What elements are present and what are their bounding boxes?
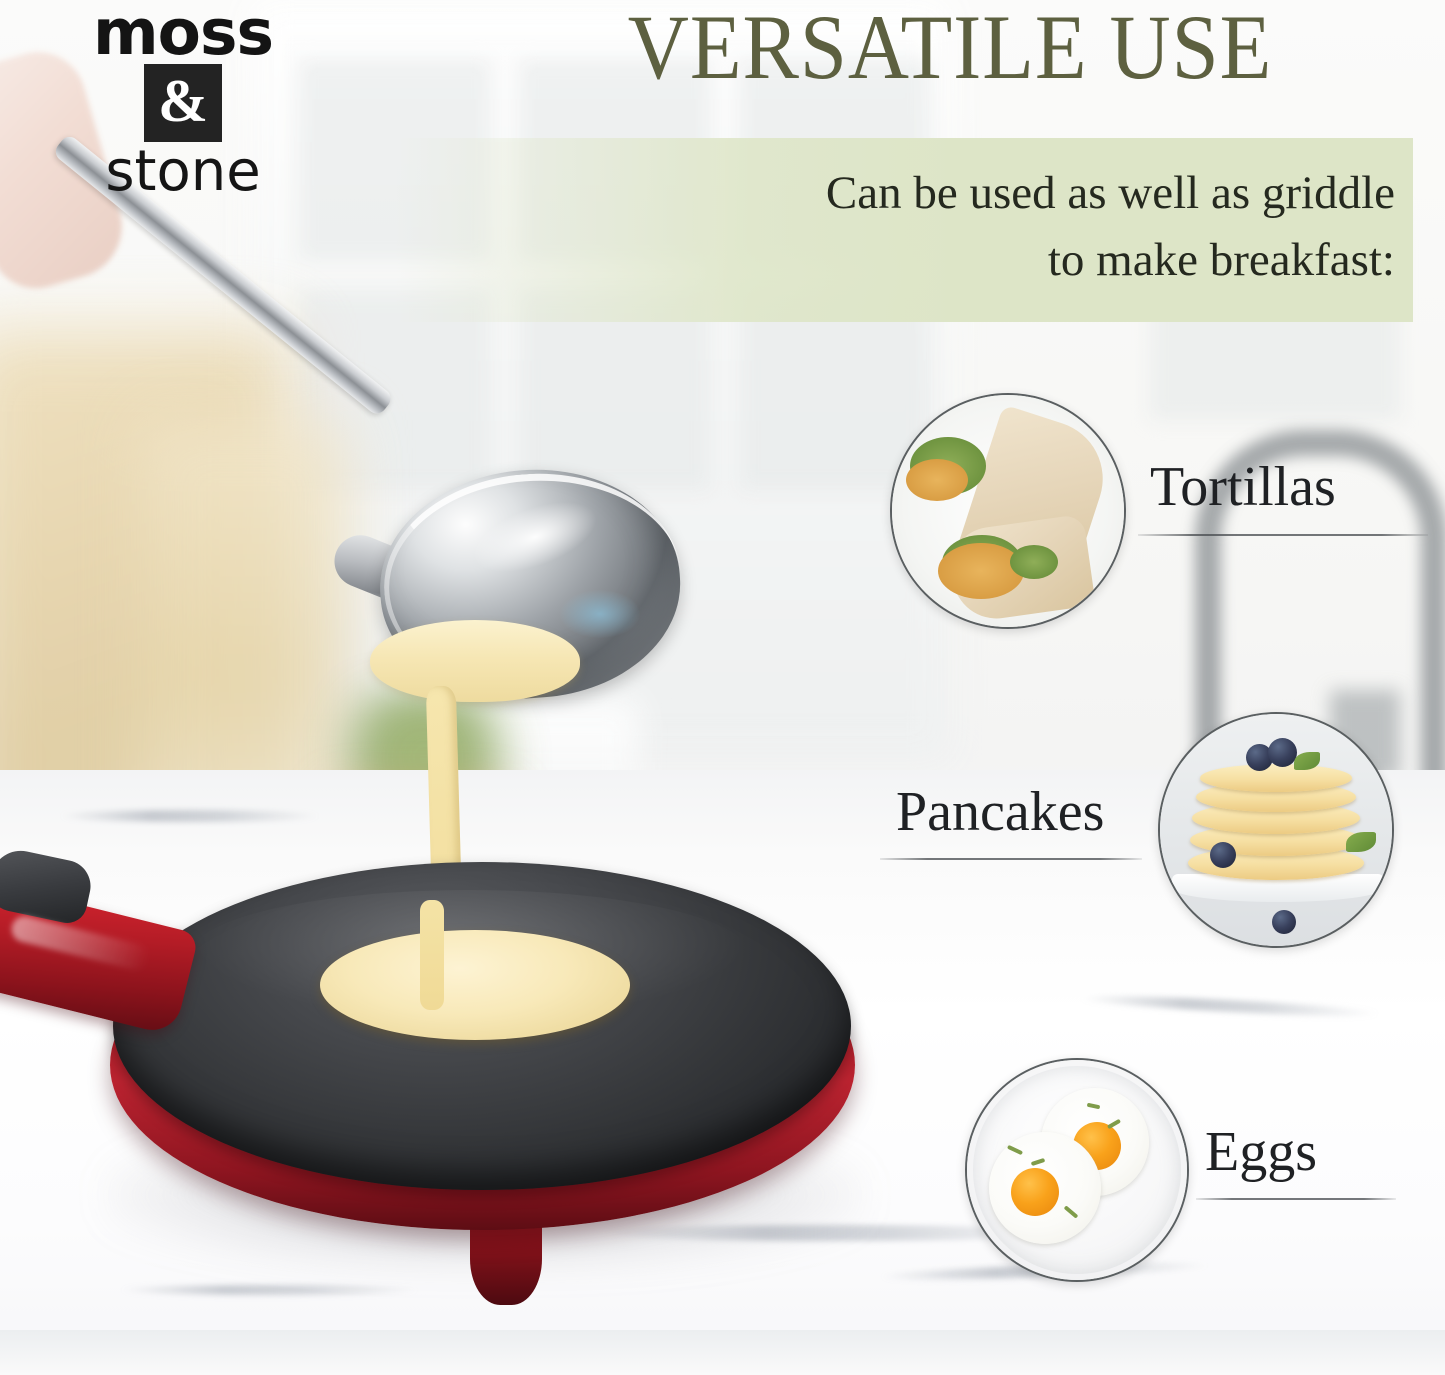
filling (938, 543, 1024, 599)
pancake (1200, 764, 1352, 792)
callout-label-tortillas: Tortillas (1150, 455, 1336, 519)
ladle-reflection (560, 590, 640, 638)
egg-yolk (1011, 1168, 1059, 1216)
callout-label-pancakes: Pancakes (896, 780, 1104, 844)
callout-underline (1138, 534, 1428, 536)
eggs-photo (965, 1058, 1189, 1282)
subtitle: Can be used as well as griddle to make b… (470, 160, 1395, 293)
pancakes-photo (1158, 712, 1394, 948)
batter-in-ladle (370, 620, 580, 702)
callout-label-eggs: Eggs (1205, 1120, 1317, 1184)
blueberry (1272, 910, 1296, 934)
marble-vein (60, 810, 320, 822)
brand-ampersand-box: & (144, 64, 222, 142)
subtitle-line-2: to make breakfast: (470, 227, 1395, 294)
brand-logo: moss & stone (68, 4, 298, 200)
lettuce (1010, 545, 1058, 579)
blueberry (1210, 842, 1236, 868)
filling (906, 459, 968, 501)
batter-stream-lower (420, 900, 444, 1010)
subtitle-line-1: Can be used as well as griddle (470, 160, 1395, 227)
page-title: VERSATILE USE (508, 0, 1391, 97)
brand-name-bottom: stone (68, 144, 298, 200)
batter-on-plate (320, 930, 630, 1040)
callout-underline (880, 858, 1142, 860)
callout-underline (1196, 1198, 1396, 1200)
tortillas-photo (890, 393, 1126, 629)
brand-name-top: moss (68, 4, 298, 62)
marble-vein (120, 1285, 420, 1295)
product-marketing-image: moss & stone VERSATILE USE Can be used a… (0, 0, 1445, 1375)
counter-edge (0, 1330, 1445, 1375)
blueberry (1268, 738, 1297, 767)
ampersand-glyph: & (158, 71, 208, 131)
